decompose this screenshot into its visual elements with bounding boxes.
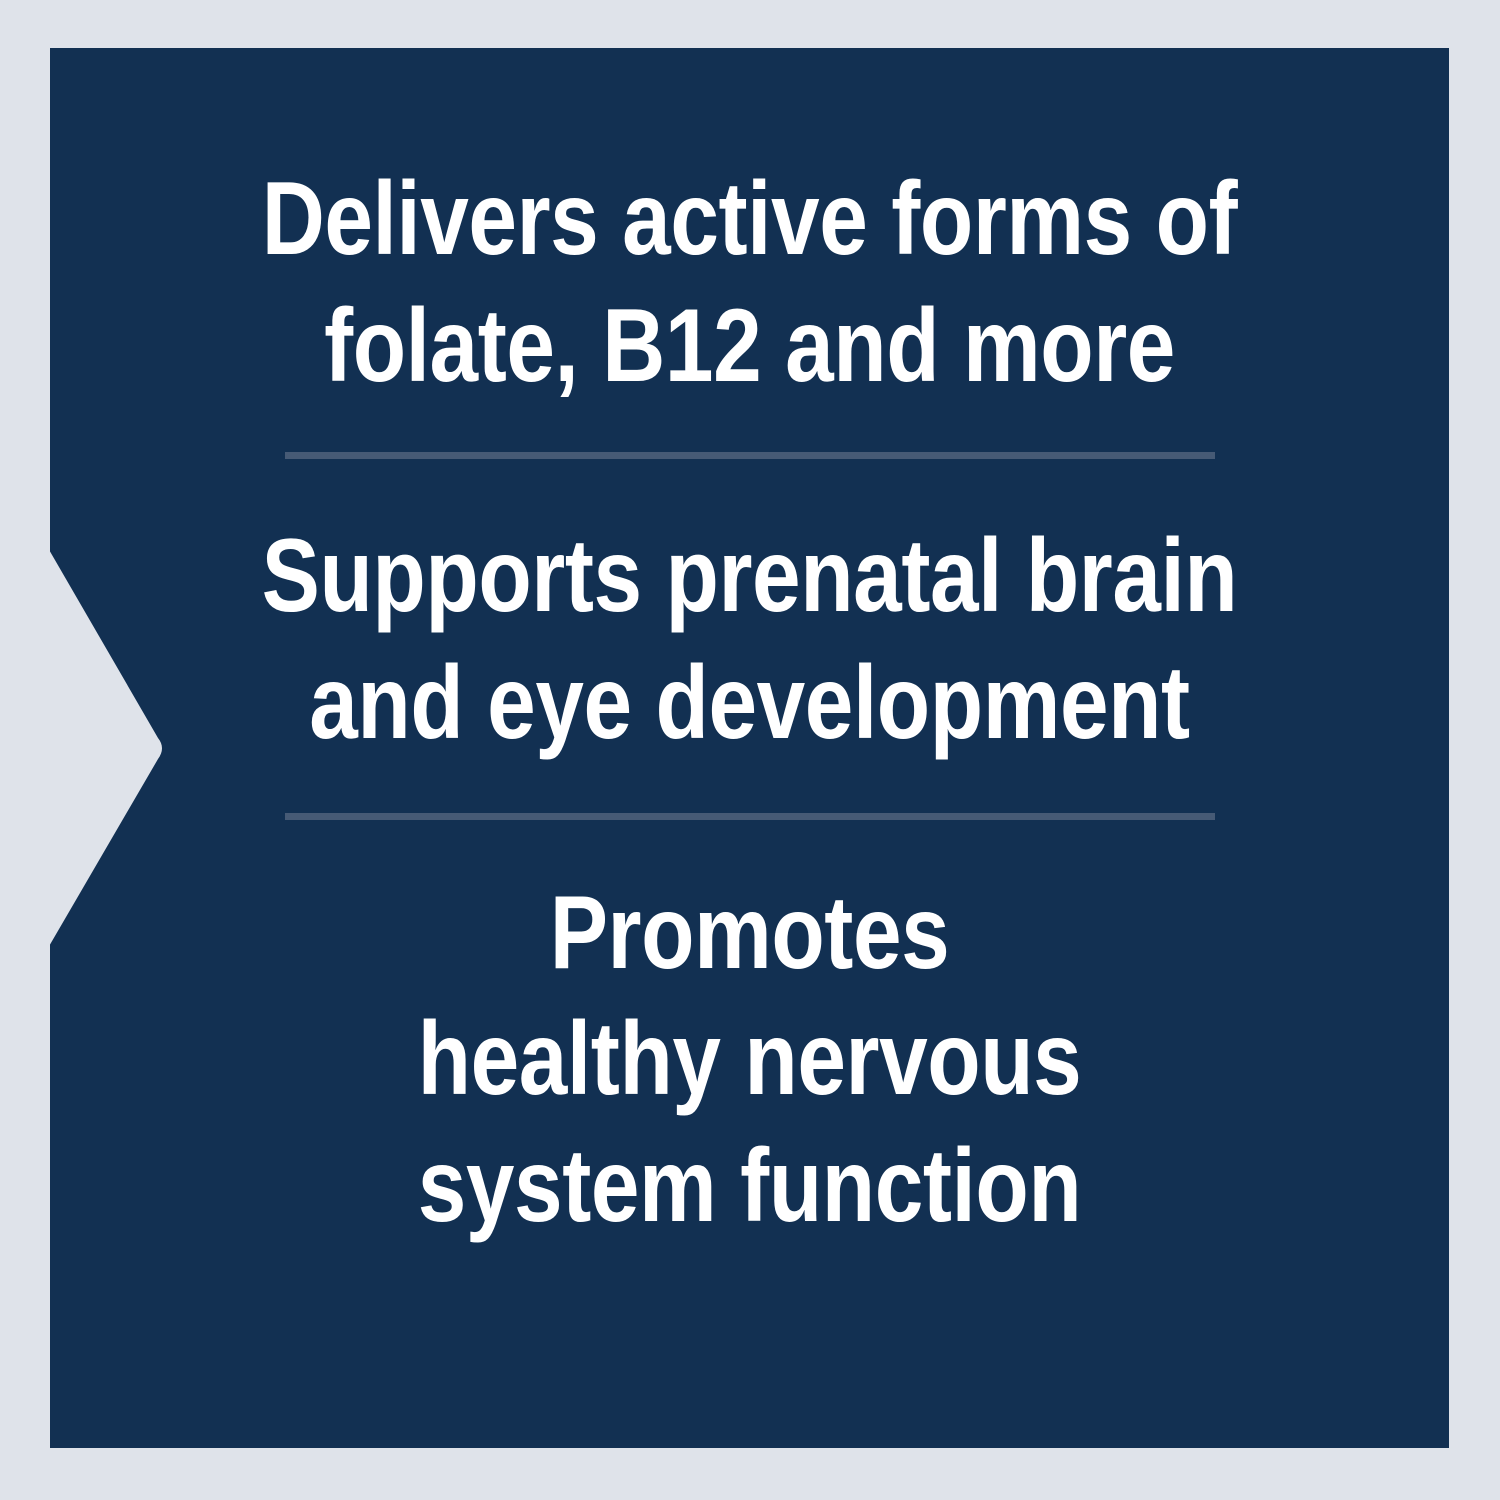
benefit-divider-1 bbox=[285, 452, 1215, 459]
benefit-1-line-1: Delivers active forms of bbox=[162, 156, 1337, 283]
benefit-3-line-1: Promotes bbox=[162, 870, 1337, 997]
benefit-3-line-3: system function bbox=[162, 1123, 1337, 1250]
product-benefits-graphic: Delivers active forms of folate, B12 and… bbox=[0, 0, 1500, 1500]
benefit-item-supports-prenatal-development: Supports prenatal brain and eye developm… bbox=[162, 513, 1337, 767]
benefit-item-promotes-nervous-system: Promotes healthy nervous system function bbox=[162, 870, 1337, 1251]
benefit-1-line-2: folate, B12 and more bbox=[162, 283, 1337, 410]
benefits-list: Delivers active forms of folate, B12 and… bbox=[50, 48, 1449, 1448]
benefit-2-line-2: and eye development bbox=[162, 640, 1337, 767]
benefit-divider-2 bbox=[285, 813, 1215, 820]
benefit-2-line-1: Supports prenatal brain bbox=[162, 513, 1337, 640]
benefit-item-delivers-active-forms: Delivers active forms of folate, B12 and… bbox=[162, 156, 1337, 410]
benefit-3-line-2: healthy nervous bbox=[162, 996, 1337, 1123]
